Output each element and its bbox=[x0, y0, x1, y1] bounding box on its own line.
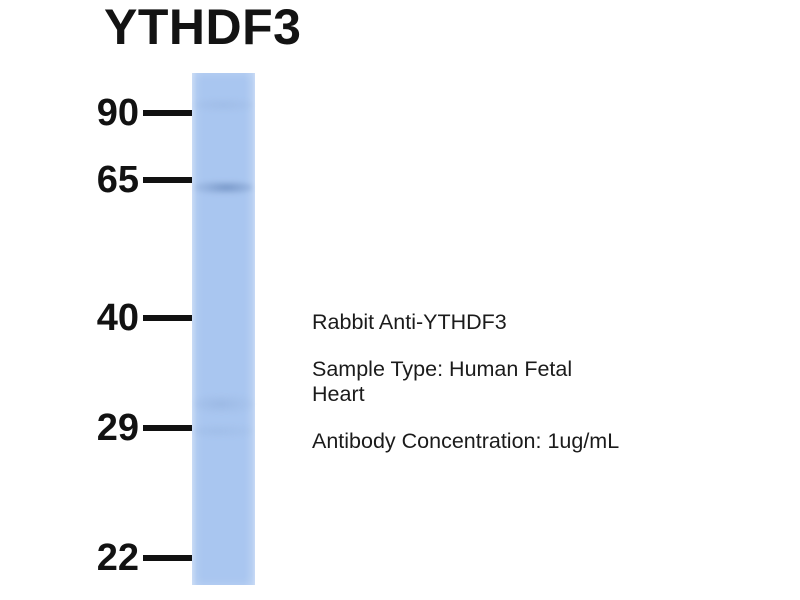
molecular-weight-ladder: 90 65 40 29 22 bbox=[0, 0, 195, 600]
band-lower-faint bbox=[195, 425, 252, 437]
annotation-sample-type: Sample Type: Human Fetal Heart bbox=[312, 357, 687, 407]
marker-label-65: 65 bbox=[97, 161, 139, 199]
gel-lane bbox=[192, 73, 255, 585]
annotation-block: Rabbit Anti-YTHDF3 Sample Type: Human Fe… bbox=[312, 310, 772, 454]
band-near-29kda bbox=[195, 395, 252, 413]
western-blot-figure: YTHDF3 90 65 40 29 22 Rabbit Anti-YTH bbox=[0, 0, 800, 600]
band-near-65kda bbox=[195, 181, 252, 194]
marker-dash-65 bbox=[143, 177, 192, 183]
marker-label-40: 40 bbox=[97, 299, 139, 337]
marker-dash-29 bbox=[143, 425, 192, 431]
annotation-antibody-concentration: Antibody Concentration: 1ug/mL bbox=[312, 429, 772, 454]
annotation-antibody: Rabbit Anti-YTHDF3 bbox=[312, 310, 772, 335]
marker-dash-40 bbox=[143, 315, 192, 321]
marker-label-90: 90 bbox=[97, 94, 139, 132]
marker-dash-90 bbox=[143, 110, 192, 116]
marker-dash-22 bbox=[143, 555, 192, 561]
band-upper-faint bbox=[195, 99, 252, 111]
marker-label-29: 29 bbox=[97, 409, 139, 447]
marker-label-22: 22 bbox=[97, 539, 139, 577]
